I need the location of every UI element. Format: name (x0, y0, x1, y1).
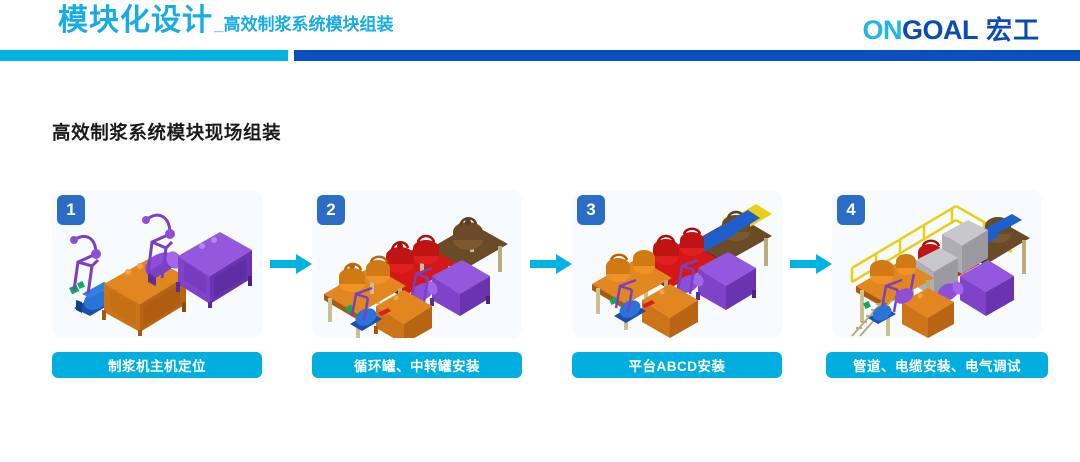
slide-title: 模块化设计 _高效制浆系统模块组装 (58, 6, 393, 36)
arrow-1-to-2-icon (270, 252, 312, 276)
step-3-number-badge: 3 (577, 195, 605, 225)
step-4-label[interactable]: 管道、电缆安装、电气调试 (826, 352, 1048, 378)
company-logo: ON GOAL 宏工 (862, 10, 1040, 47)
step-1-label[interactable]: 制浆机主机定位 (52, 352, 262, 378)
header-rule-blue-segment (294, 50, 1080, 61)
step-card-4[interactable]: 4 管道、电缆安装、电气调试 (832, 190, 1042, 395)
header-rule-cyan-segment (0, 50, 288, 61)
arrow-3-to-4-icon (790, 252, 832, 276)
logo-goal-text: GOAL (902, 15, 978, 46)
arrow-2-to-3-icon (530, 252, 572, 276)
step-3-label[interactable]: 平台ABCD安装 (572, 352, 782, 378)
step-card-1[interactable]: 1 制浆机主机定位 (52, 190, 262, 395)
assembly-steps-row: 1 制浆机主机定位 (0, 190, 1080, 395)
step-4-number-badge: 4 (837, 195, 865, 225)
step-2-label[interactable]: 循环罐、中转罐安装 (312, 352, 522, 378)
slide-header: 模块化设计 _高效制浆系统模块组装 ON GOAL 宏工 (0, 0, 1080, 68)
title-sub-text: _高效制浆系统模块组装 (214, 16, 393, 33)
logo-chinese-text: 宏工 (986, 10, 1040, 47)
step-card-2[interactable]: 2 循环罐、中转罐安装 (312, 190, 522, 395)
header-rule (0, 50, 1080, 61)
step-1-number-badge: 1 (57, 195, 85, 225)
logo-on-text: ON (862, 15, 902, 46)
step-2-number-badge: 2 (317, 195, 345, 225)
section-heading: 高效制浆系统模块现场组装 (52, 119, 281, 145)
step-card-3[interactable]: 3 平台ABCD安装 (572, 190, 782, 395)
title-main-text: 模块化设计 (58, 6, 213, 36)
